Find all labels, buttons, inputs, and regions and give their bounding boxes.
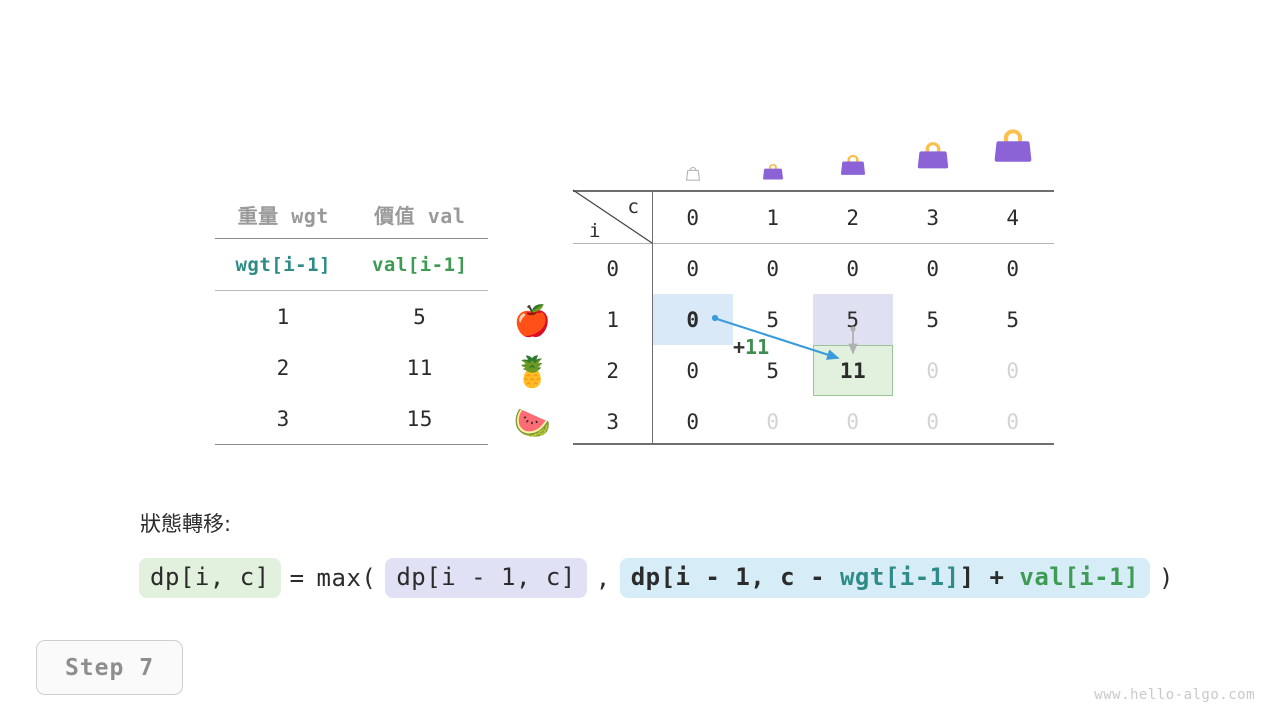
item-table-header-row: 重量 wgt 價值 val: [215, 190, 488, 238]
bag-icon-2: [813, 124, 893, 180]
item-table-divider-bottom: [215, 444, 488, 445]
item-weight-3: 3: [215, 407, 352, 431]
dp-arrows: [573, 190, 1054, 445]
formula-option-skip: dp[i - 1, c]: [385, 558, 586, 598]
formula-comma: ,: [590, 564, 617, 592]
item-table-subheader-wgt: wgt[i-1]: [215, 254, 352, 276]
empty-bag-icon: [653, 128, 733, 184]
arrow-gray-origin-dot: [850, 326, 855, 331]
bag-icon-3: [893, 118, 973, 174]
apple-icon: 🍎: [505, 296, 560, 347]
formula-target: dp[i, c]: [139, 558, 281, 598]
item-table-header-value: 價值 val: [352, 200, 489, 229]
annotation-plus-sign: +: [733, 335, 745, 359]
dp-table: c i 0 1 2 3 4 0 1 2 3 0 0 0 0 0 0 5 5 5 …: [573, 190, 1054, 445]
item-value-2: 11: [352, 356, 489, 380]
formula-option-take: dp[i - 1, c - wgt[i-1]] + val[i-1]: [620, 558, 1150, 598]
formula-take-val: val[i-1]: [1019, 563, 1139, 591]
bag-icon-4: [973, 112, 1053, 168]
item-table-subheader-val: val[i-1]: [352, 254, 489, 276]
item-table-header-weight: 重量 wgt: [215, 200, 352, 229]
watermelon-icon: 🍉: [505, 398, 560, 449]
item-value-1: 5: [352, 305, 489, 329]
step-badge: Step 7: [36, 640, 183, 695]
table-row: 3 15: [215, 393, 488, 444]
formula-take-mid: ] +: [960, 563, 1020, 591]
formula-take-prefix: dp[i - 1, c -: [631, 563, 840, 591]
formula-max-open: max(: [311, 564, 383, 592]
arrow-origin-dot: [712, 315, 718, 321]
item-weight-1: 1: [215, 305, 352, 329]
item-weight-2: 2: [215, 356, 352, 380]
annotation-plus-value: +11: [733, 335, 769, 359]
fruit-column: 🍎 🍍 🍉: [505, 296, 560, 449]
table-row: 2 11: [215, 342, 488, 393]
state-transition-label: 狀態轉移:: [140, 508, 231, 538]
bag-icon-1: [733, 128, 813, 184]
item-table-subheader-row: wgt[i-1] val[i-1]: [215, 239, 488, 290]
item-value-3: 15: [352, 407, 489, 431]
item-table: 重量 wgt 價值 val wgt[i-1] val[i-1] 1 5 2 11…: [215, 190, 488, 445]
formula-equals: =: [284, 564, 311, 592]
table-row: 1 5: [215, 291, 488, 342]
pineapple-icon: 🍍: [505, 347, 560, 398]
formula-close-paren: ): [1153, 564, 1180, 592]
state-transition-formula: dp[i, c] = max( dp[i - 1, c] , dp[i - 1,…: [136, 558, 1180, 598]
formula-take-wgt: wgt[i-1]: [840, 563, 960, 591]
watermark: www.hello-algo.com: [1094, 687, 1255, 703]
annotation-added-value: 11: [745, 335, 769, 359]
